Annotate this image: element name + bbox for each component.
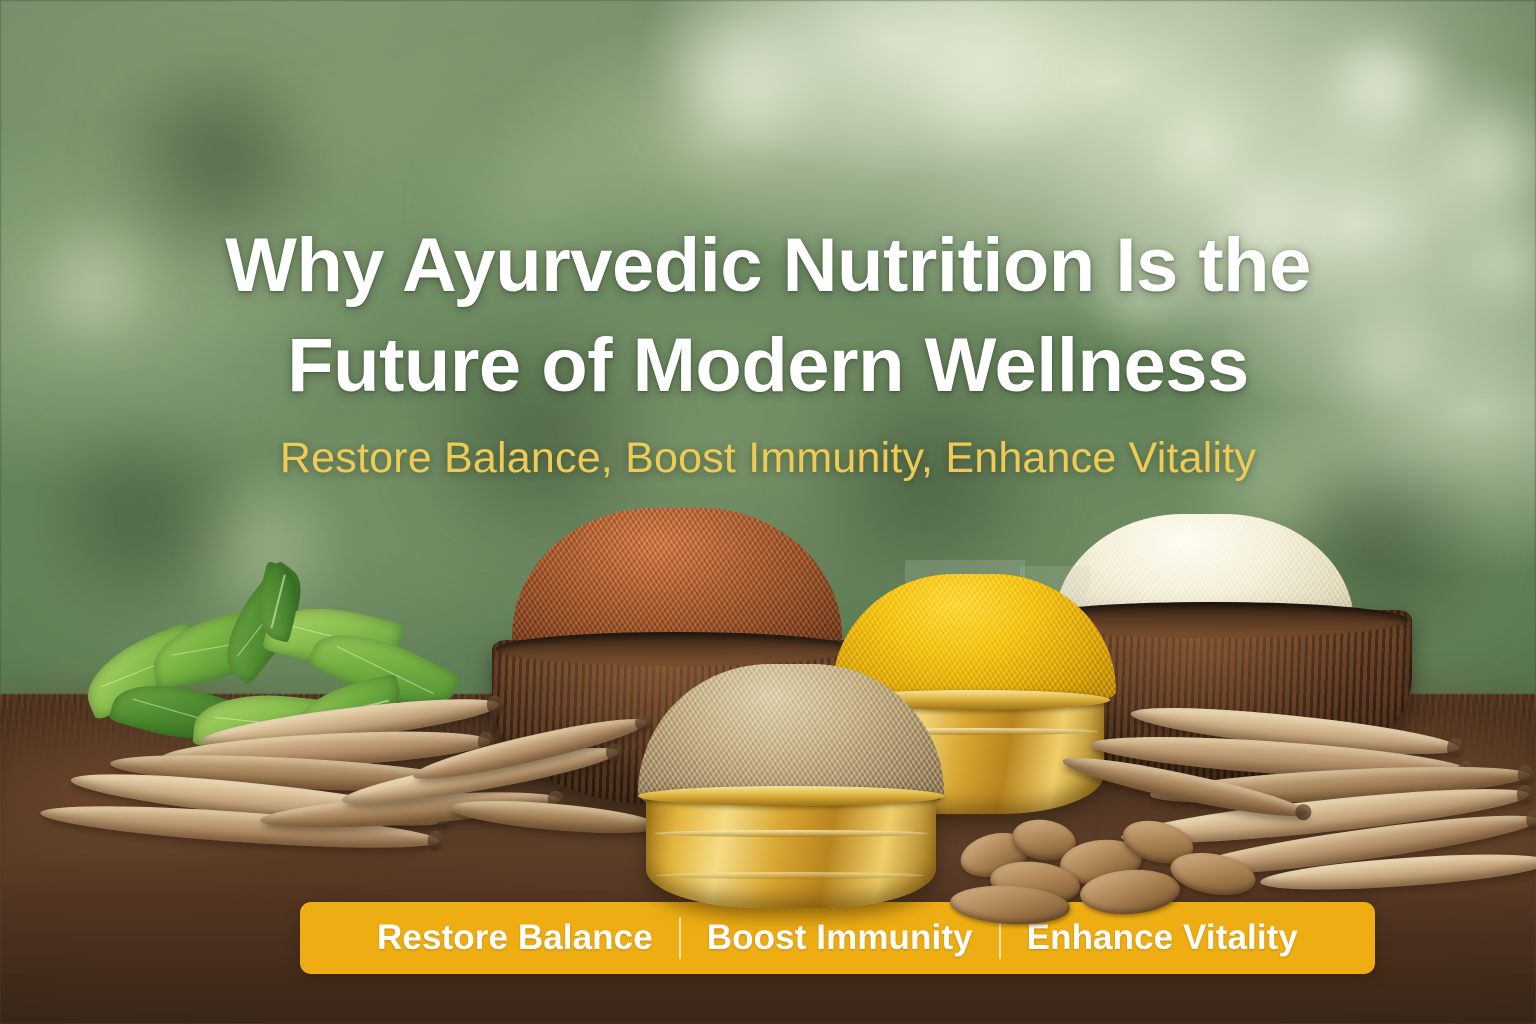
brass-bowl-beige-powder [630, 672, 950, 912]
dried-rhizome-pile [950, 800, 1290, 930]
bowl-lip [638, 786, 944, 806]
bowl-body [646, 792, 936, 908]
bowl-ring [654, 830, 928, 837]
benefit-item-restore-balance[interactable]: Restore Balance [351, 902, 679, 974]
page-subtitle: Restore Balance, Boost Immunity, Enhance… [0, 430, 1536, 486]
hero-banner: Why Ayurvedic Nutrition Is the Future of… [0, 0, 1536, 1024]
bowl-ring [656, 872, 924, 879]
ashwagandha-roots-left [40, 700, 660, 880]
rhizome [1167, 847, 1259, 901]
page-title: Why Ayurvedic Nutrition Is the Future of… [0, 216, 1536, 416]
